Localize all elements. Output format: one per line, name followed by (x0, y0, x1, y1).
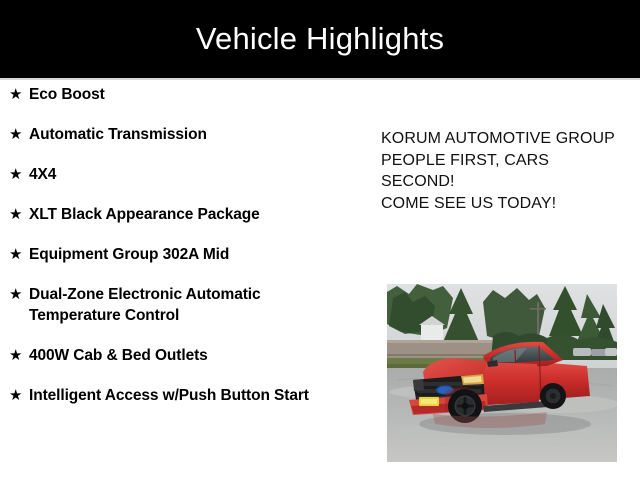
list-item: ★ Intelligent Access w/Push Button Start (0, 385, 360, 406)
star-icon: ★ (9, 244, 29, 265)
highlight-label: Eco Boost (29, 84, 360, 105)
highlight-label: XLT Black Appearance Package (29, 204, 360, 225)
list-item: ★ Dual-Zone Electronic Automatic Tempera… (0, 284, 360, 326)
highlight-label: 4X4 (29, 164, 360, 185)
header-divider (0, 78, 640, 80)
list-item: ★ XLT Black Appearance Package (0, 204, 360, 225)
star-icon: ★ (9, 385, 29, 406)
list-item: ★ 400W Cab & Bed Outlets (0, 345, 360, 366)
dealer-message-line: KORUM AUTOMOTIVE GROUP (381, 128, 617, 150)
header-banner: Vehicle Highlights (0, 0, 640, 78)
highlight-label: Intelligent Access w/Push Button Start (29, 385, 360, 406)
highlight-label: Equipment Group 302A Mid (29, 244, 360, 265)
star-icon: ★ (9, 284, 29, 305)
vehicle-photo (387, 284, 617, 462)
highlight-label: Automatic Transmission (29, 124, 360, 145)
star-icon: ★ (9, 345, 29, 366)
list-item: ★ Automatic Transmission (0, 124, 360, 145)
dealer-message-line: PEOPLE FIRST, CARS SECOND! (381, 150, 617, 193)
list-item: ★ 4X4 (0, 164, 360, 185)
vehicle-photo-illustration (387, 284, 617, 462)
dealer-message: KORUM AUTOMOTIVE GROUP PEOPLE FIRST, CAR… (381, 128, 617, 214)
star-icon: ★ (9, 84, 29, 105)
star-icon: ★ (9, 164, 29, 185)
page-title: Vehicle Highlights (196, 23, 444, 56)
highlight-label: Dual-Zone Electronic Automatic Temperatu… (29, 284, 360, 326)
highlight-label: 400W Cab & Bed Outlets (29, 345, 360, 366)
star-icon: ★ (9, 204, 29, 225)
list-item: ★ Equipment Group 302A Mid (0, 244, 360, 265)
dealer-message-line: COME SEE US TODAY! (381, 193, 617, 215)
star-icon: ★ (9, 124, 29, 145)
list-item: ★ Eco Boost (0, 84, 360, 105)
vehicle-highlights-list: ★ Eco Boost ★ Automatic Transmission ★ 4… (0, 84, 360, 425)
